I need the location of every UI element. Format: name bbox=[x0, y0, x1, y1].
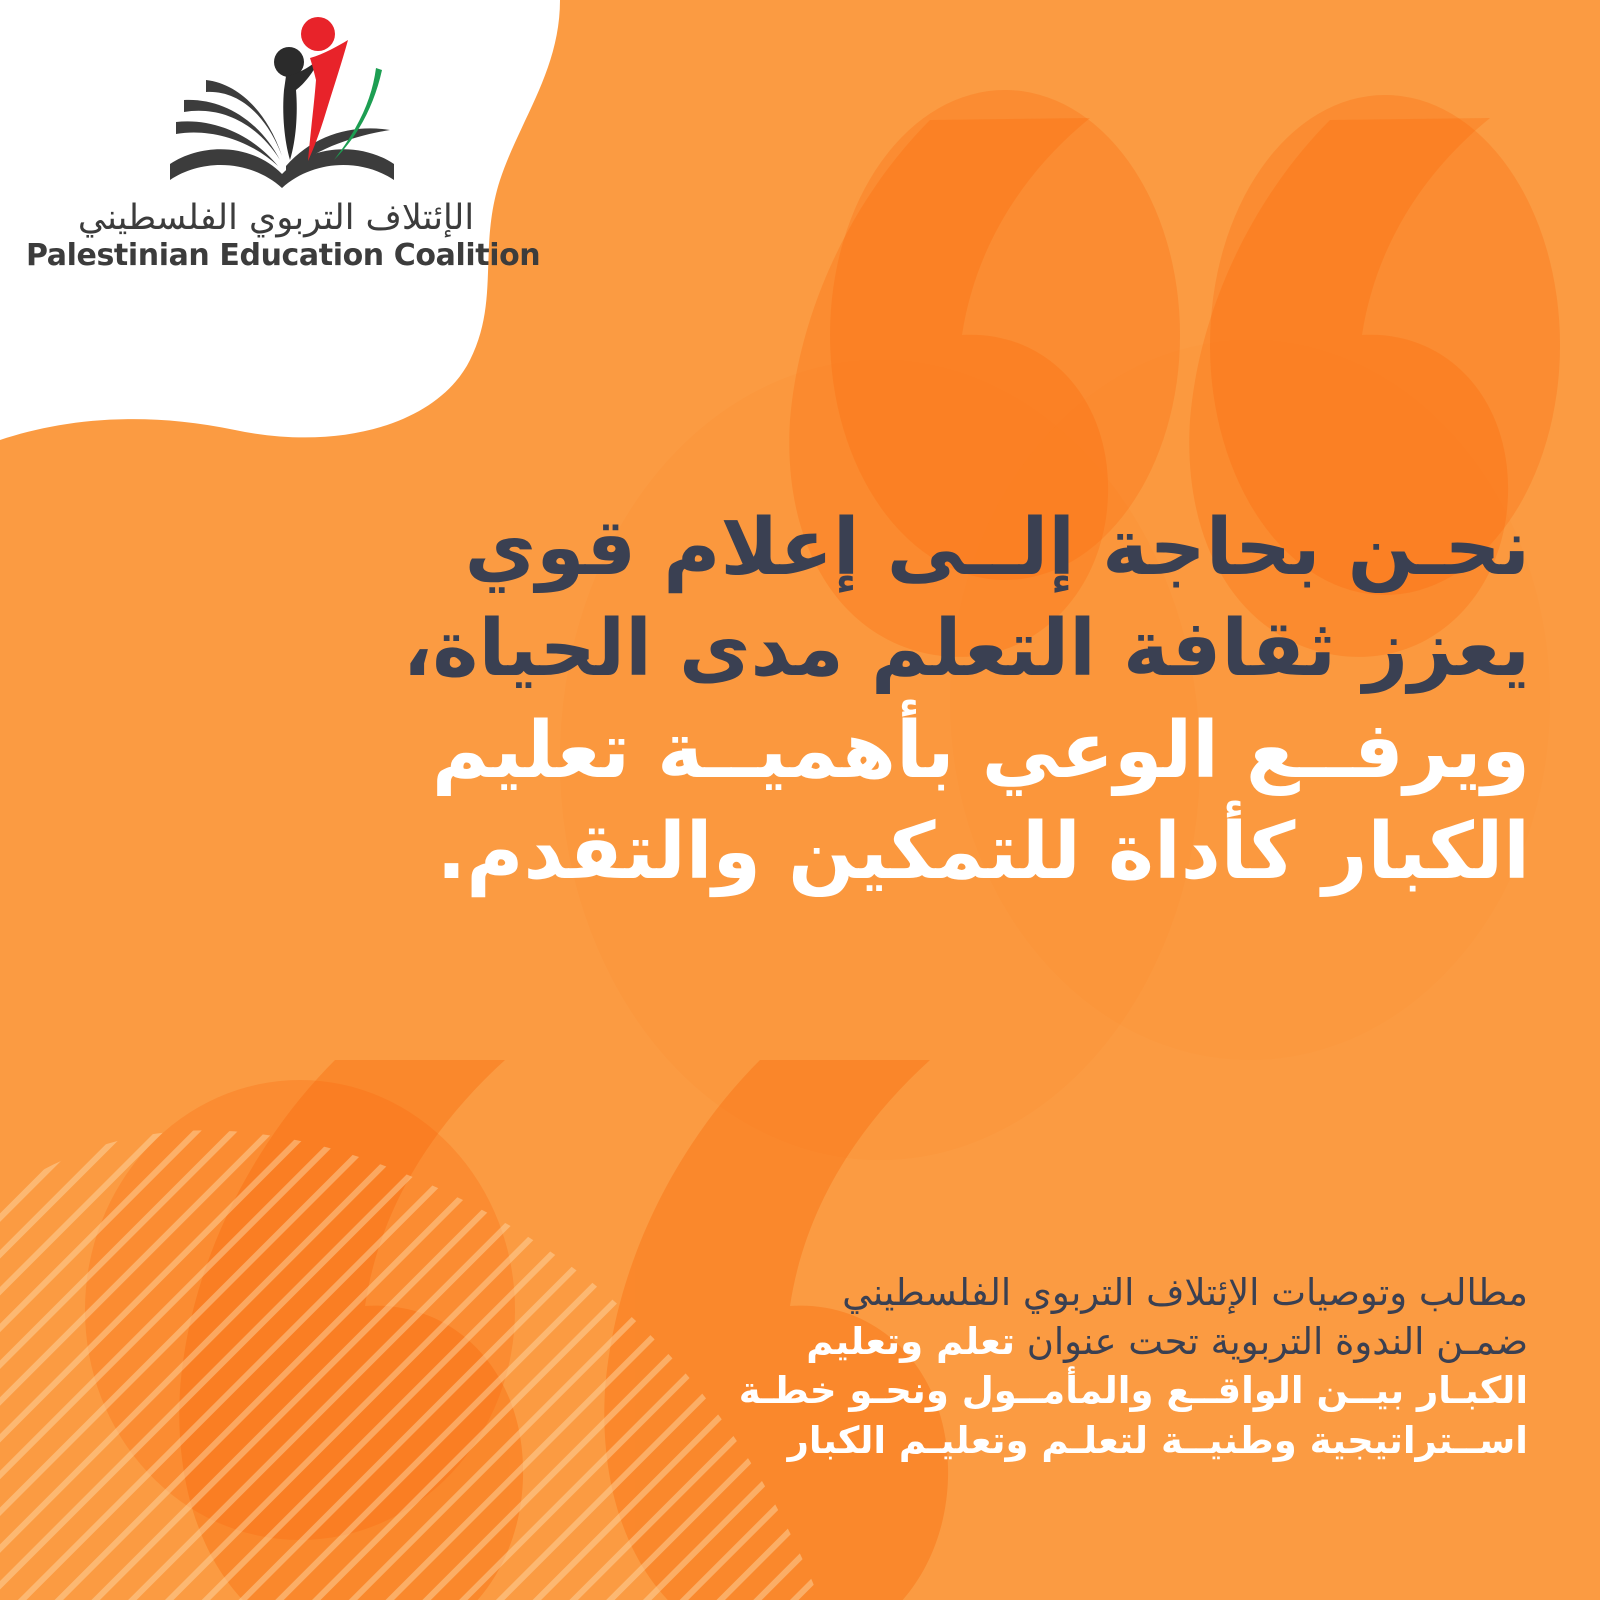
caption-line-2: ضمـن الندوة التربوية تحت عنوان تعلم وتعل… bbox=[648, 1317, 1528, 1366]
logo: الإئتلاف التربوي الفلسطيني Palestinian E… bbox=[18, 14, 528, 284]
caption-line-1: مطالب وتوصيات الإئتلاف التربوي الفلسطيني bbox=[648, 1268, 1528, 1317]
caption-line-2-title: تعلم وتعليم bbox=[806, 1320, 1015, 1363]
open-book-with-figures-logo-icon bbox=[158, 14, 408, 199]
logo-text: الإئتلاف التربوي الفلسطيني Palestinian E… bbox=[26, 200, 526, 290]
caption-line-2-prefix: ضمـن الندوة التربوية تحت عنوان bbox=[1027, 1320, 1528, 1363]
logo-arabic-name: الإئتلاف التربوي الفلسطيني bbox=[26, 200, 526, 238]
quote-line-3: ويرفــع الوعي بأهميــة تعليم bbox=[180, 701, 1530, 802]
quote-line-4: الكبار كأداة للتمكين والتقدم. bbox=[180, 802, 1530, 903]
quote-line-2: يعزز ثقافة التعلم مدى الحياة، bbox=[180, 599, 1530, 700]
caption-line-4: اســتراتيجية وطنيــة لتعلـم وتعليـم الكب… bbox=[648, 1416, 1528, 1465]
circle-decoration bbox=[85, 1080, 515, 1540]
quote-text-block: نحـن بحاجة إلــى إعلام قوي يعزز ثقافة ال… bbox=[180, 498, 1530, 904]
caption-block: مطالب وتوصيات الإئتلاف التربوي الفلسطيني… bbox=[648, 1268, 1528, 1465]
caption-line-3: الكبـار بيــن الواقــع والمأمــول ونحـو … bbox=[648, 1366, 1528, 1415]
quote-card: الإئتلاف التربوي الفلسطيني Palestinian E… bbox=[0, 0, 1600, 1600]
logo-english-name: Palestinian Education Coalition bbox=[26, 239, 526, 273]
quote-line-1: نحـن بحاجة إلــى إعلام قوي bbox=[180, 498, 1530, 599]
